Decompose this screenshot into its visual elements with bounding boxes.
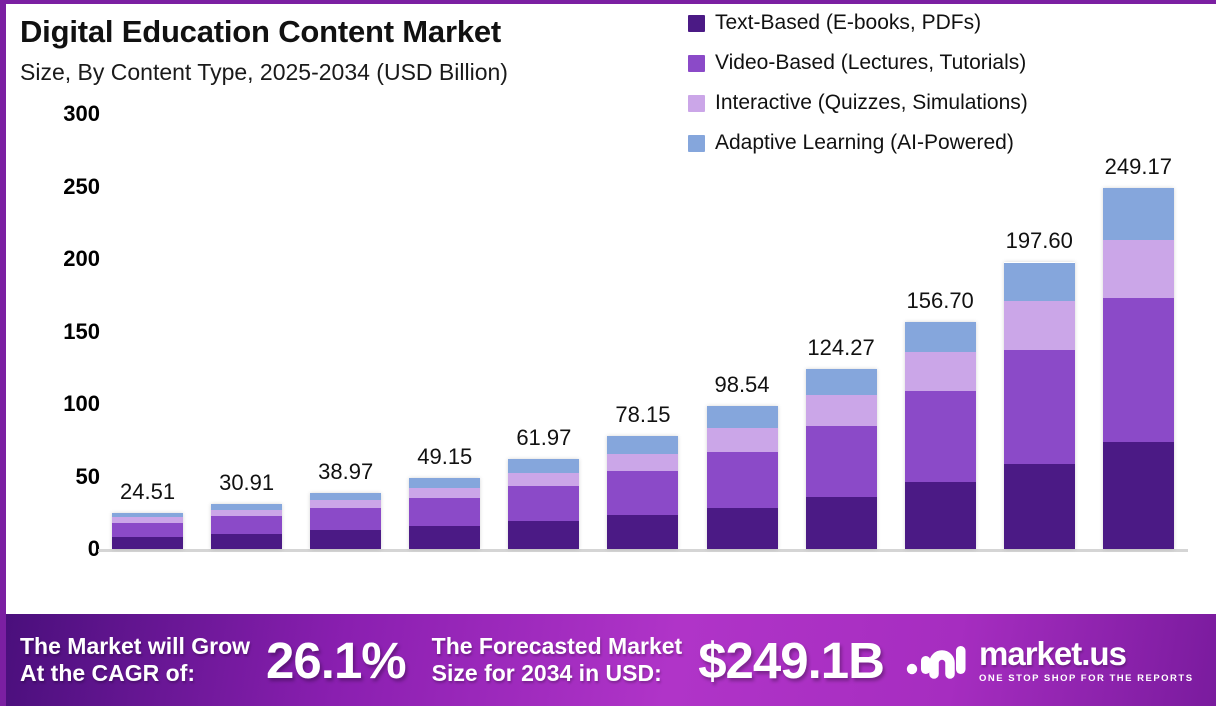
bar-stack[interactable] <box>310 493 381 550</box>
bar-group[interactable]: 24.51 <box>98 114 197 549</box>
bar-stack[interactable] <box>806 369 877 549</box>
bar-stack[interactable] <box>905 322 976 549</box>
bar-group[interactable]: 78.15 <box>593 114 692 549</box>
forecast-caption: The Forecasted Market Size for 2034 in U… <box>432 633 683 687</box>
bar-segment[interactable] <box>409 488 480 499</box>
bar-segment[interactable] <box>905 391 976 482</box>
bar-segment[interactable] <box>905 352 976 391</box>
bar-segment[interactable] <box>310 508 381 530</box>
bar-group[interactable]: 38.97 <box>296 114 395 549</box>
y-axis-tick-label: 50 <box>20 464 100 490</box>
bar-group[interactable]: 156.70 <box>891 114 990 549</box>
legend-swatch-icon <box>688 95 705 112</box>
bar-segment[interactable] <box>211 534 282 549</box>
bar-segment[interactable] <box>409 526 480 549</box>
bar-segment[interactable] <box>1004 464 1075 549</box>
bar-value-label: 38.97 <box>318 459 373 485</box>
bar-stack[interactable] <box>1004 262 1075 549</box>
bar-segment[interactable] <box>707 428 778 452</box>
bar-segment[interactable] <box>211 510 282 517</box>
chart-page: Digital Education Content Market Size, B… <box>0 0 1216 706</box>
bar-value-label: 78.15 <box>615 402 670 428</box>
bar-stack[interactable] <box>409 478 480 549</box>
bar-group[interactable]: 124.27 <box>792 114 891 549</box>
bar-segment[interactable] <box>806 497 877 549</box>
bar-group[interactable]: 49.15 <box>395 114 494 549</box>
bar-group[interactable]: 249.17 <box>1089 114 1188 549</box>
bar-segment[interactable] <box>707 452 778 508</box>
bar-value-label: 197.60 <box>1006 228 1073 254</box>
bar-segment[interactable] <box>806 395 877 426</box>
bar-value-label: 30.91 <box>219 470 274 496</box>
bar-segment[interactable] <box>1103 298 1174 443</box>
bar-group[interactable]: 197.60 <box>990 114 1089 549</box>
brand-text: market.us ONE STOP SHOP FOR THE REPORTS <box>979 637 1194 684</box>
footer-banner: The Market will Grow At the CAGR of: 26.… <box>6 614 1216 706</box>
y-axis-tick-label: 0 <box>20 536 100 562</box>
bar-value-label: 156.70 <box>907 288 974 314</box>
y-axis-tick-label: 300 <box>20 101 100 127</box>
forecast-caption-line-2: Size for 2034 in USD: <box>432 660 683 687</box>
bar-segment[interactable] <box>1004 350 1075 465</box>
legend-item-label: Interactive (Quizzes, Simulations) <box>715 91 1028 115</box>
bar-stack[interactable] <box>112 513 183 549</box>
forecast-value: $249.1B <box>698 631 884 690</box>
bar-segment[interactable] <box>1103 240 1174 298</box>
brand-tagline: ONE STOP SHOP FOR THE REPORTS <box>979 673 1194 684</box>
bar-segment[interactable] <box>1004 301 1075 350</box>
bar-segment[interactable] <box>508 459 579 472</box>
bar-group[interactable]: 61.97 <box>494 114 593 549</box>
bar-segment[interactable] <box>607 436 678 454</box>
bar-stack[interactable] <box>607 436 678 549</box>
bar-segment[interactable] <box>508 486 579 521</box>
x-axis-line <box>98 549 1188 552</box>
bar-segment[interactable] <box>1103 188 1174 240</box>
bar-value-label: 61.97 <box>516 425 571 451</box>
legend-item[interactable]: Text-Based (E-books, PDFs) <box>688 8 1028 38</box>
bar-segment[interactable] <box>112 523 183 537</box>
bar-segment[interactable] <box>1103 442 1174 549</box>
bar-segment[interactable] <box>607 454 678 471</box>
bar-stack[interactable] <box>508 459 579 549</box>
bar-value-label: 124.27 <box>807 335 874 361</box>
brand-logo[interactable]: market.us ONE STOP SHOP FOR THE REPORTS <box>906 636 1194 685</box>
brand-name: market.us <box>979 637 1194 670</box>
legend-item[interactable]: Video-Based (Lectures, Tutorials) <box>688 48 1028 78</box>
bar-value-label: 49.15 <box>417 444 472 470</box>
bar-segment[interactable] <box>607 515 678 549</box>
bar-value-label: 24.51 <box>120 479 175 505</box>
bar-segment[interactable] <box>310 500 381 508</box>
page-title: Digital Education Content Market <box>20 14 660 50</box>
cagr-caption-line-2: At the CAGR of: <box>20 660 250 687</box>
bar-segment[interactable] <box>607 471 678 515</box>
plot-area: 050100150200250300 24.5130.9138.9749.156… <box>6 114 1216 574</box>
bar-segment[interactable] <box>409 498 480 526</box>
cagr-value: 26.1% <box>266 631 406 690</box>
bar-segment[interactable] <box>905 482 976 549</box>
bar-stack[interactable] <box>1103 188 1174 549</box>
forecast-caption-line-1: The Forecasted Market <box>432 633 683 660</box>
bar-segment[interactable] <box>310 493 381 500</box>
bar-segment[interactable] <box>211 516 282 533</box>
bar-series-container: 24.5130.9138.9749.1561.9778.1598.54124.2… <box>98 114 1188 549</box>
bar-segment[interactable] <box>409 478 480 488</box>
bar-segment[interactable] <box>905 322 976 353</box>
y-axis-tick-label: 250 <box>20 174 100 200</box>
bar-segment[interactable] <box>707 406 778 427</box>
bar-segment[interactable] <box>806 369 877 395</box>
bar-group[interactable]: 30.91 <box>197 114 296 549</box>
y-axis-tick-label: 100 <box>20 391 100 417</box>
page-subtitle: Size, By Content Type, 2025-2034 (USD Bi… <box>20 59 660 86</box>
bar-segment[interactable] <box>707 508 778 549</box>
chart-header: Digital Education Content Market Size, B… <box>20 14 660 86</box>
bar-stack[interactable] <box>211 504 282 549</box>
legend-swatch-icon <box>688 15 705 32</box>
bar-segment[interactable] <box>310 530 381 549</box>
legend-swatch-icon <box>688 55 705 72</box>
legend-item-label: Text-Based (E-books, PDFs) <box>715 11 981 35</box>
market-us-bars-icon <box>906 636 970 685</box>
bar-segment[interactable] <box>508 521 579 549</box>
cagr-caption: The Market will Grow At the CAGR of: <box>20 633 250 687</box>
bar-value-label: 249.17 <box>1105 154 1172 180</box>
cagr-caption-line-1: The Market will Grow <box>20 633 250 660</box>
bar-group[interactable]: 98.54 <box>693 114 792 549</box>
y-axis-tick-label: 200 <box>20 246 100 272</box>
bar-segment[interactable] <box>1004 263 1075 302</box>
bar-value-label: 98.54 <box>714 372 769 398</box>
bar-segment[interactable] <box>112 537 183 549</box>
bar-segment[interactable] <box>508 473 579 486</box>
bar-stack[interactable] <box>707 406 778 549</box>
y-axis-tick-label: 150 <box>20 319 100 345</box>
legend-item-label: Video-Based (Lectures, Tutorials) <box>715 51 1026 75</box>
bar-segment[interactable] <box>806 426 877 497</box>
